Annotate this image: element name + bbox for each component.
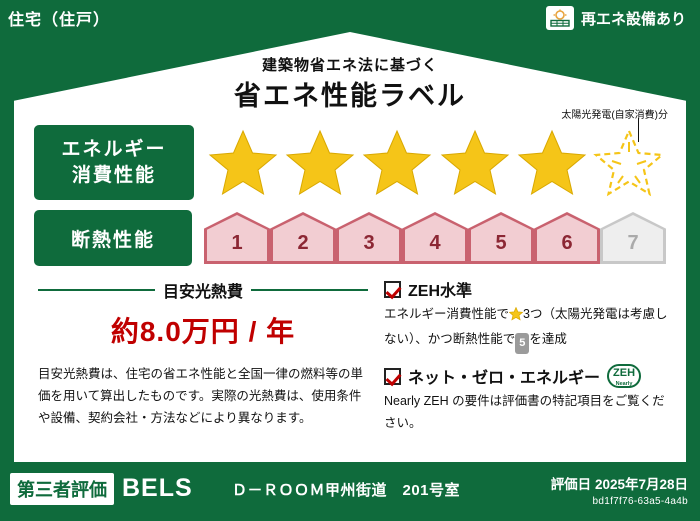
- evaluation-code: bd1f7f76-63a5-4a4b: [551, 496, 688, 507]
- solar-equipment-label: 再エネ設備あり: [581, 8, 686, 29]
- insulation-level-5-number: 5: [495, 232, 506, 264]
- heading-rule-left: [38, 289, 155, 291]
- insulation-level-1: 1: [204, 212, 270, 264]
- solar-equipment-tag: 再エネ設備あり: [546, 6, 686, 30]
- net-zero-energy-title-row: ネット・ゼロ・エネルギー ZEH Nearly: [384, 364, 674, 388]
- insulation-level-2-number: 2: [297, 232, 308, 264]
- footer-bar: 第三者評価 BELS Ｄ－ＲＯＯＭ甲州街道 201号室 評価日 2025年7月2…: [0, 465, 700, 521]
- evaluation-date: 評価日 2025年7月28日: [551, 473, 688, 493]
- insulation-level-5: 5: [468, 212, 534, 264]
- insulation-level-6-number: 6: [561, 232, 572, 264]
- solar-panel-icon: [546, 6, 574, 30]
- star-icon-4: [438, 128, 512, 198]
- insulation-level-1-number: 1: [231, 232, 242, 264]
- star-icon-3: [360, 128, 434, 198]
- zeh-nearly-logo-icon: ZEH Nearly: [607, 364, 641, 388]
- energy-stars: [194, 125, 666, 200]
- energy-label-root: 住宅（住戸） 再エネ設備あり 建築物省エネ法に基づく 省エネ性能ラベル 太陽光発…: [0, 0, 700, 521]
- property-room-name: Ｄ－ＲＯＯＭ甲州街道 201号室: [232, 479, 460, 500]
- third-party-eval-label: 第三者評価: [10, 473, 114, 505]
- energy-performance-label: エネルギー 消費性能: [34, 125, 194, 200]
- insulation-performance-label: 断熱性能: [34, 210, 192, 266]
- insulation-level-7-number: 7: [627, 232, 638, 264]
- insulation-performance-row: 断熱性能 1 2 3 4: [34, 210, 666, 266]
- zeh-standard-item: ZEH水準 エネルギー消費性能で3つ（太陽光発電は考慮しない）、かつ断熱性能で5…: [384, 277, 674, 354]
- net-zero-energy-item: ネット・ゼロ・エネルギー ZEH Nearly Nearly ZEH の要件は評…: [384, 364, 674, 435]
- estimated-utility-cost-value: 約8.0万円 / 年: [38, 310, 368, 350]
- insulation-levels: 1 2 3 4 5: [192, 210, 666, 266]
- estimated-utility-cost-note: 目安光熱費は、住宅の省エネ性能と全国一律の燃料等の単価を用いて算出したものです。…: [38, 364, 368, 430]
- zeh-standard-text: エネルギー消費性能で3つ（太陽光発電は考慮しない）、かつ断熱性能で5を達成: [384, 304, 674, 354]
- insulation-grade-badge: 5: [515, 333, 529, 354]
- label-panel: 建築物省エネ法に基づく 省エネ性能ラベル 太陽光発電(自家消費)分 エネルギー …: [14, 32, 686, 462]
- insulation-level-4-number: 4: [429, 232, 440, 264]
- bels-label: BELS: [122, 474, 193, 503]
- heading-rule-right: [251, 289, 368, 291]
- zeh-standard-text-a: エネルギー消費性能で: [384, 307, 509, 321]
- house-type-tag: 住宅（住戸）: [8, 6, 110, 30]
- insulation-level-6: 6: [534, 212, 600, 264]
- energy-label-line2: 消費性能: [72, 163, 156, 189]
- zeh-standard-text-c: を達成: [529, 332, 567, 346]
- star-icon-2: [283, 128, 357, 198]
- checkbox-checked-icon: [384, 281, 401, 298]
- star-icon-6-solar: [592, 128, 666, 198]
- zeh-logo-main: ZEH: [613, 367, 635, 379]
- evaluation-info: 評価日 2025年7月28日 bd1f7f76-63a5-4a4b: [551, 473, 688, 507]
- energy-label-line1: エネルギー: [61, 137, 166, 163]
- zeh-standard-title-row: ZEH水準: [384, 277, 674, 301]
- net-zero-energy-title: ネット・ゼロ・エネルギー: [408, 364, 600, 388]
- zeh-logo-sub: Nearly: [609, 379, 639, 390]
- estimated-utility-cost-heading-text: 目安光熱費: [163, 278, 243, 302]
- bels-badge: 第三者評価 BELS: [10, 473, 193, 505]
- insulation-level-4: 4: [402, 212, 468, 264]
- estimated-utility-cost-heading: 目安光熱費: [38, 278, 368, 302]
- solar-self-consumption-note: 太陽光発電(自家消費)分: [561, 106, 668, 121]
- net-zero-energy-text: Nearly ZEH の要件は評価書の特記項目をご覧ください。: [384, 391, 674, 435]
- star-icon-1: [206, 128, 280, 198]
- star-icon-5: [515, 128, 589, 198]
- estimated-utility-cost-block: 目安光熱費 約8.0万円 / 年 目安光熱費は、住宅の省エネ性能と全国一律の燃料…: [38, 278, 368, 430]
- label-subtitle: 建築物省エネ法に基づく: [14, 54, 686, 75]
- insulation-level-7: 7: [600, 212, 666, 264]
- checkbox-checked-icon-2: [384, 368, 401, 385]
- zeh-block: ZEH水準 エネルギー消費性能で3つ（太陽光発電は考慮しない）、かつ断熱性能で5…: [384, 277, 674, 439]
- insulation-level-3-number: 3: [363, 232, 374, 264]
- insulation-level-2: 2: [270, 212, 336, 264]
- zeh-standard-title: ZEH水準: [408, 277, 472, 301]
- mini-star-icon: [509, 307, 523, 329]
- insulation-level-3: 3: [336, 212, 402, 264]
- energy-performance-row: エネルギー 消費性能: [34, 125, 666, 200]
